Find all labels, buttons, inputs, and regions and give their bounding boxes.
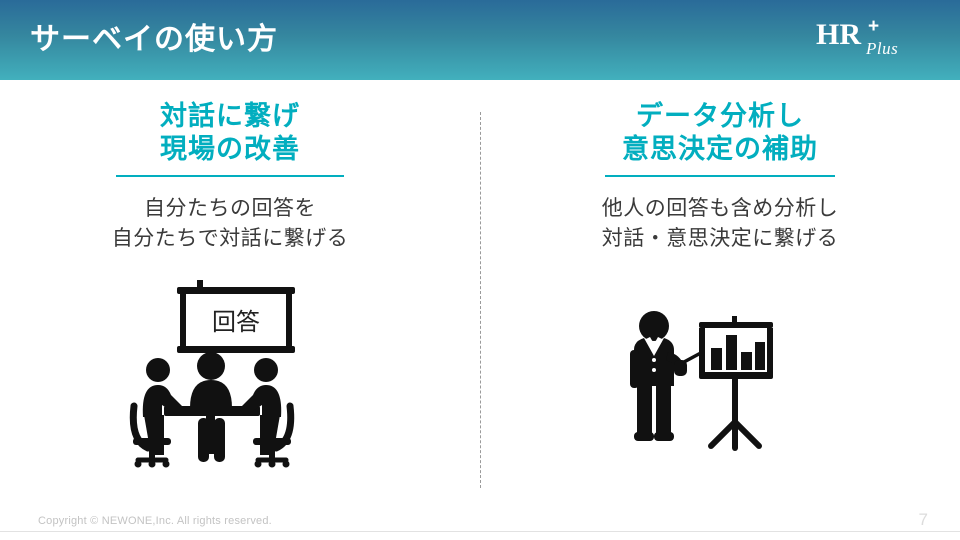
- meeting-with-screen-illustration: 回答: [122, 278, 362, 468]
- column-analysis: データ分析し 意思決定の補助 他人の回答も含め分析し 対話・意思決定に繋げる: [500, 100, 940, 254]
- column-dialogue: 対話に繋げ 現場の改善 自分たちの回答を 自分たちで対話に繋げる: [10, 100, 450, 254]
- page-number: 7: [919, 510, 928, 530]
- hrplus-logo: HR + Plus: [806, 20, 926, 66]
- vertical-dashed-divider: [480, 112, 481, 488]
- copyright-text: Copyright © NEWONE,Inc. All rights reser…: [38, 514, 272, 528]
- logo-plus-icon: +: [868, 17, 879, 36]
- column-body-text: 自分たちの回答を 自分たちで対話に繋げる: [10, 194, 450, 254]
- logo-plus-word: Plus: [866, 40, 898, 58]
- chart-bar-2: [726, 335, 737, 370]
- heading-underline: [605, 175, 835, 177]
- column-heading: 対話に繋げ 現場の改善: [10, 100, 450, 166]
- presenter-with-bar-chart-illustration: [622, 300, 794, 456]
- column-body-text: 他人の回答も含め分析し 対話・意思決定に繋げる: [500, 194, 940, 254]
- logo-hr-text: HR: [816, 20, 861, 50]
- chart-bar-3: [741, 352, 752, 370]
- footer-divider: [0, 531, 960, 532]
- heading-underline: [116, 175, 344, 177]
- chart-bar-1: [711, 348, 722, 370]
- column-heading: データ分析し 意思決定の補助: [500, 100, 940, 166]
- slide-header: サーベイの使い方 HR + Plus: [0, 0, 960, 80]
- page-title: サーベイの使い方: [30, 20, 278, 60]
- chart-bar-4: [755, 342, 765, 370]
- screen-label-text: 回答: [212, 308, 260, 336]
